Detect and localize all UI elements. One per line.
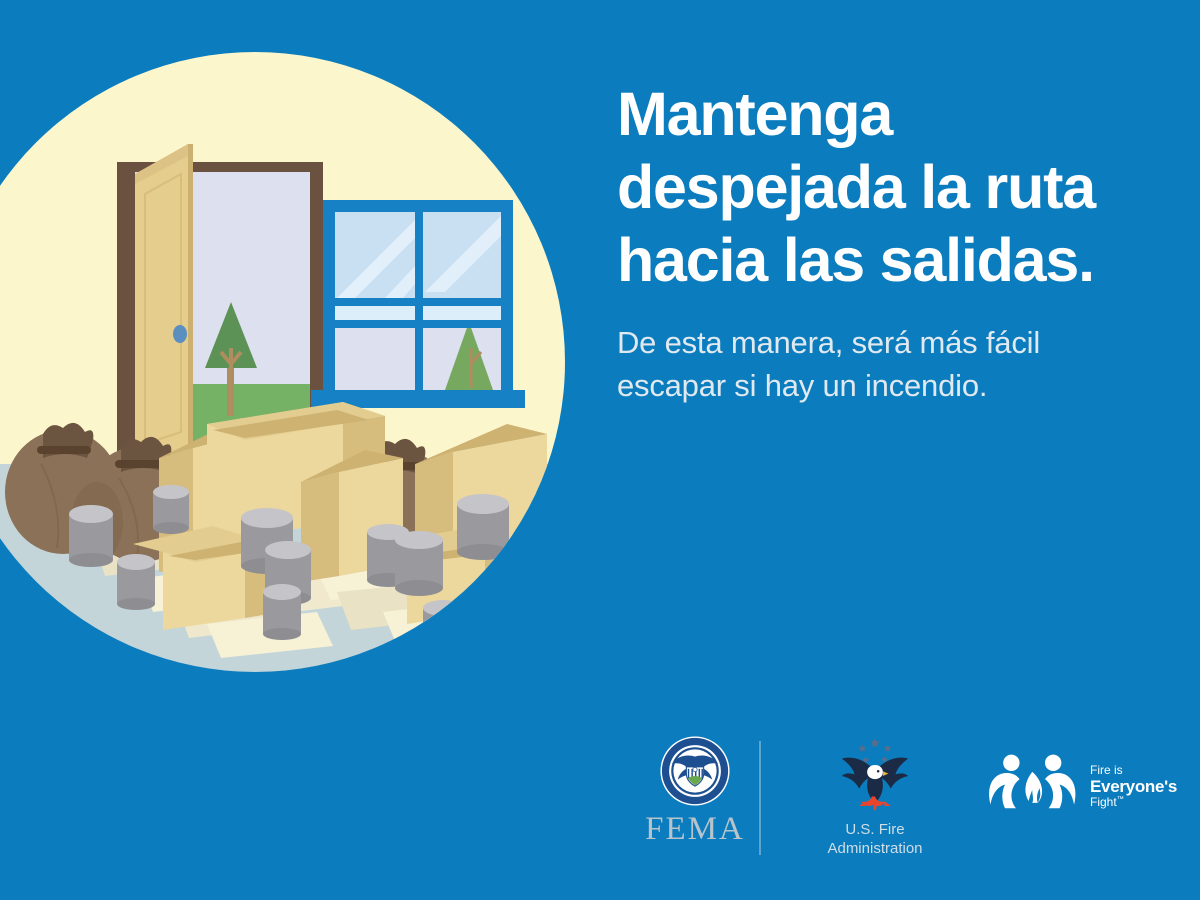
sack-neck	[37, 446, 91, 454]
can	[457, 494, 509, 560]
window-pane-mid-left	[335, 306, 415, 320]
stars	[858, 738, 891, 763]
figure-head-right	[1045, 755, 1061, 771]
can	[153, 485, 189, 534]
page-subtitle: De esta manera, será más fácil escapar s…	[617, 321, 1137, 407]
usfa-wordmark: U.S. Fire Administration	[800, 820, 950, 858]
fief-line-1: Fire is	[1090, 764, 1177, 777]
flame-icon	[859, 797, 891, 811]
window	[311, 200, 525, 408]
fire-is-everyones-fight-emblem	[985, 750, 1085, 812]
fema-wordmark: FEMA	[620, 811, 770, 848]
trademark-symbol: ™	[1117, 796, 1124, 803]
window-mullion-horizontal-top	[335, 298, 501, 306]
door-knob	[173, 325, 187, 343]
figure-body-left	[989, 773, 1019, 808]
figure-head-left	[1003, 755, 1019, 771]
fema-logo: FEMA	[620, 735, 770, 848]
door-edge	[188, 144, 193, 454]
page-title: Mantenga despejada la ruta hacia las sal…	[617, 78, 1137, 297]
illustration-scene	[0, 52, 565, 672]
door-tree-trunk	[227, 368, 234, 416]
fief-line-3-text: Fight	[1090, 795, 1117, 809]
window-mullion-horizontal-bottom	[331, 320, 505, 328]
eagle-eye	[877, 770, 880, 773]
logo-bar: FEMA	[600, 735, 1180, 870]
logo-divider	[759, 741, 761, 855]
can	[69, 505, 113, 567]
cluttered-exit-path-illustration	[0, 52, 565, 672]
flame-icon	[1025, 772, 1042, 803]
window-pane-mid-right	[423, 306, 501, 320]
usfa-logo: U.S. Fire Administration	[800, 735, 950, 858]
can	[395, 531, 443, 596]
fief-wordmark: Fire is Everyone's Fight™	[1090, 764, 1177, 810]
usfa-eagle-emblem	[835, 735, 915, 817]
door-frame-left	[117, 162, 135, 464]
fire-is-everyones-fight-logo: Fire is Everyone's Fight™	[985, 750, 1180, 817]
figure-body-right	[1045, 773, 1075, 808]
fief-line-2: Everyone's	[1090, 777, 1177, 796]
can	[263, 584, 301, 640]
eagle-head	[867, 765, 883, 779]
dhs-seal	[659, 735, 731, 807]
can	[117, 554, 155, 610]
poster-copy: Mantenga despejada la ruta hacia las sal…	[617, 78, 1137, 407]
can	[423, 600, 463, 656]
fief-line-3: Fight™	[1090, 796, 1177, 809]
